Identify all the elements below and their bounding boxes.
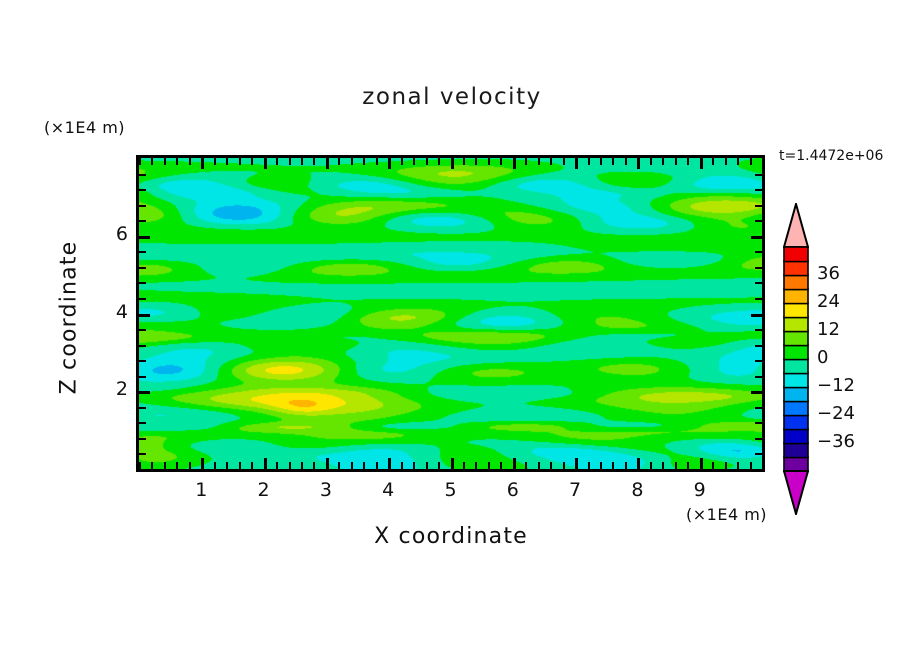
tick-mark	[239, 462, 241, 469]
tick-mark	[550, 158, 552, 165]
tick-mark	[750, 462, 752, 469]
x-tick-label: 1	[181, 479, 221, 501]
tick-mark	[513, 458, 516, 469]
x-tick-label: 7	[555, 479, 595, 501]
tick-mark	[338, 462, 340, 469]
tick-mark	[687, 462, 689, 469]
tick-mark	[139, 236, 150, 239]
tick-mark	[376, 462, 378, 469]
tick-mark	[755, 469, 762, 471]
tick-mark	[755, 360, 762, 362]
colorbar-band	[784, 345, 808, 360]
colorbar-band	[784, 429, 808, 444]
x-axis-title: X coordinate	[136, 524, 766, 549]
tick-mark	[463, 158, 465, 165]
tick-mark	[538, 158, 540, 165]
tick-mark	[139, 407, 146, 409]
tick-mark	[500, 158, 502, 165]
colorbar-tick-label: −12	[817, 375, 887, 396]
colorbar-tick-label: −36	[817, 431, 887, 452]
y-tick-label: 6	[88, 223, 128, 245]
tick-mark	[139, 345, 146, 347]
tick-mark	[139, 158, 141, 165]
page-title: zonal velocity	[0, 84, 904, 110]
tick-mark	[525, 462, 527, 469]
tick-mark	[488, 462, 490, 469]
tick-mark	[139, 267, 146, 269]
tick-mark	[475, 462, 477, 469]
tick-mark	[151, 158, 153, 165]
tick-mark	[301, 158, 303, 165]
colorbar-band	[784, 415, 808, 430]
tick-mark	[675, 462, 677, 469]
tick-mark	[276, 158, 278, 165]
tick-mark	[189, 462, 191, 469]
tick-mark	[525, 158, 527, 165]
colorbar-tick-label: −24	[817, 403, 887, 424]
tick-mark	[139, 462, 141, 469]
tick-mark	[755, 438, 762, 440]
tick-mark	[751, 391, 762, 394]
tick-mark	[563, 462, 565, 469]
tick-mark	[712, 462, 714, 469]
tick-mark	[588, 462, 590, 469]
tick-mark	[151, 462, 153, 469]
tick-mark	[500, 462, 502, 469]
tick-mark	[463, 462, 465, 469]
x-tick-label: 5	[431, 479, 471, 501]
colorbar-band	[784, 247, 808, 262]
tick-mark	[575, 458, 578, 469]
tick-mark	[139, 189, 146, 191]
tick-mark	[388, 158, 391, 169]
colorbar-tick-label: 24	[817, 291, 887, 312]
tick-mark	[139, 422, 146, 424]
tick-mark	[363, 462, 365, 469]
tick-mark	[612, 462, 614, 469]
y-tick-label: 4	[88, 301, 128, 323]
tick-mark	[755, 267, 762, 269]
plot-area	[136, 155, 765, 472]
tick-mark	[176, 462, 178, 469]
colorbar-band	[784, 387, 808, 402]
y-axis-title: Z coordinate	[57, 218, 82, 418]
colorbar-band	[784, 289, 808, 304]
tick-mark	[700, 458, 703, 469]
x-axis-units-label: (×1E4 m)	[686, 505, 767, 524]
x-tick-label: 6	[493, 479, 533, 501]
tick-mark	[575, 158, 578, 169]
tick-mark	[326, 458, 329, 469]
tick-mark	[301, 462, 303, 469]
tick-mark	[751, 236, 762, 239]
colorbar-over-arrow	[784, 204, 808, 247]
tick-mark	[201, 458, 204, 469]
tick-mark	[650, 158, 652, 165]
tick-mark	[513, 158, 516, 169]
tick-mark	[139, 298, 146, 300]
colorbar-band	[784, 373, 808, 388]
tick-mark	[755, 345, 762, 347]
colorbar	[783, 203, 809, 515]
tick-mark	[214, 462, 216, 469]
tick-mark	[289, 462, 291, 469]
tick-mark	[750, 158, 752, 165]
tick-mark	[755, 282, 762, 284]
colorbar-band	[784, 303, 808, 318]
tick-mark	[401, 158, 403, 165]
tick-mark	[737, 158, 739, 165]
tick-mark	[755, 189, 762, 191]
tick-mark	[139, 174, 146, 176]
tick-mark	[139, 251, 146, 253]
tick-mark	[413, 158, 415, 165]
tick-mark	[700, 158, 703, 169]
tick-mark	[762, 462, 764, 469]
tick-mark	[755, 453, 762, 455]
tick-mark	[762, 158, 764, 165]
tick-mark	[755, 220, 762, 222]
tick-mark	[563, 158, 565, 165]
tick-mark	[426, 158, 428, 165]
tick-mark	[475, 158, 477, 165]
colorbar-band	[784, 401, 808, 416]
tick-mark	[164, 462, 166, 469]
tick-mark	[675, 158, 677, 165]
tick-mark	[588, 158, 590, 165]
tick-mark	[401, 462, 403, 469]
colorbar-tick-label: 12	[817, 319, 887, 340]
tick-mark	[201, 158, 204, 169]
tick-mark	[139, 220, 146, 222]
tick-mark	[737, 462, 739, 469]
x-tick-label: 3	[306, 479, 346, 501]
tick-mark	[313, 158, 315, 165]
tick-mark	[662, 158, 664, 165]
tick-mark	[139, 282, 146, 284]
tick-mark	[139, 360, 146, 362]
y-tick-label: 2	[88, 378, 128, 400]
colorbar-band	[784, 457, 808, 472]
tick-mark	[725, 158, 727, 165]
time-annotation: t=1.4472e+06	[779, 148, 883, 164]
colorbar-under-arrow	[784, 471, 808, 514]
tick-mark	[637, 458, 640, 469]
tick-mark	[725, 462, 727, 469]
tick-mark	[239, 158, 241, 165]
tick-mark	[376, 158, 378, 165]
tick-mark	[363, 158, 365, 165]
tick-mark	[755, 422, 762, 424]
tick-mark	[139, 469, 146, 471]
tick-mark	[755, 251, 762, 253]
tick-mark	[755, 174, 762, 176]
tick-mark	[438, 158, 440, 165]
tick-mark	[139, 438, 146, 440]
tick-mark	[139, 314, 150, 317]
tick-mark	[755, 407, 762, 409]
colorbar-band	[784, 359, 808, 374]
tick-mark	[264, 158, 267, 169]
tick-mark	[251, 462, 253, 469]
tick-mark	[612, 158, 614, 165]
tick-mark	[600, 158, 602, 165]
tick-mark	[625, 158, 627, 165]
tick-mark	[755, 376, 762, 378]
tick-mark	[751, 314, 762, 317]
y-axis-units-label: (×1E4 m)	[44, 118, 125, 137]
tick-mark	[451, 458, 454, 469]
x-tick-label: 8	[617, 479, 657, 501]
colorbar-band	[784, 275, 808, 290]
tick-mark	[164, 158, 166, 165]
tick-mark	[139, 329, 146, 331]
tick-mark	[189, 158, 191, 165]
colorbar-tick-label: 36	[817, 263, 887, 284]
tick-mark	[139, 205, 146, 207]
tick-mark	[139, 453, 146, 455]
colorbar-gradient	[783, 203, 809, 515]
tick-mark	[388, 458, 391, 469]
zonal-velocity-contour-plot: zonal velocity (×1E4 m) (×1E4 m) X coord…	[0, 0, 904, 654]
tick-mark	[313, 462, 315, 469]
tick-mark	[226, 158, 228, 165]
tick-mark	[264, 458, 267, 469]
tick-mark	[755, 205, 762, 207]
tick-mark	[712, 158, 714, 165]
tick-mark	[600, 462, 602, 469]
tick-mark	[289, 158, 291, 165]
tick-mark	[637, 158, 640, 169]
tick-mark	[538, 462, 540, 469]
tick-mark	[139, 376, 146, 378]
x-tick-label: 2	[244, 479, 284, 501]
x-tick-label: 9	[680, 479, 720, 501]
tick-mark	[755, 329, 762, 331]
colorbar-band	[784, 261, 808, 276]
tick-mark	[139, 391, 150, 394]
colorbar-band	[784, 317, 808, 332]
tick-mark	[438, 462, 440, 469]
tick-mark	[226, 462, 228, 469]
tick-mark	[662, 462, 664, 469]
colorbar-tick-label: 0	[817, 347, 887, 368]
tick-mark	[550, 462, 552, 469]
contour-field	[139, 158, 762, 469]
tick-mark	[413, 462, 415, 469]
tick-mark	[338, 158, 340, 165]
tick-mark	[251, 158, 253, 165]
tick-mark	[426, 462, 428, 469]
x-tick-label: 4	[368, 479, 408, 501]
colorbar-band	[784, 443, 808, 458]
tick-mark	[176, 158, 178, 165]
tick-mark	[755, 298, 762, 300]
tick-mark	[488, 158, 490, 165]
tick-mark	[451, 158, 454, 169]
tick-mark	[326, 158, 329, 169]
tick-mark	[351, 158, 353, 165]
tick-mark	[650, 462, 652, 469]
tick-mark	[214, 158, 216, 165]
tick-mark	[687, 158, 689, 165]
tick-mark	[625, 462, 627, 469]
tick-mark	[351, 462, 353, 469]
tick-mark	[276, 462, 278, 469]
colorbar-band	[784, 331, 808, 346]
